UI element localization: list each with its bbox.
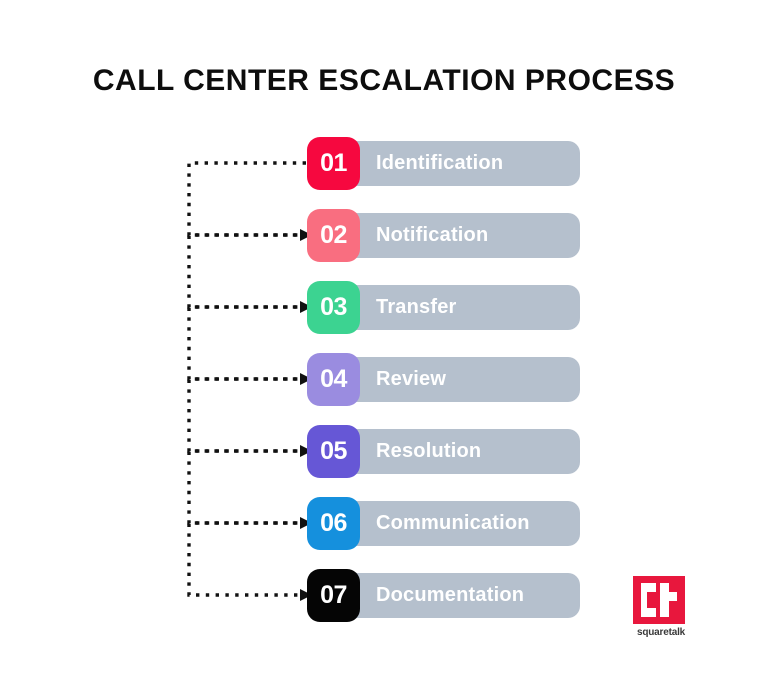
step-row[interactable]: 04 Review (307, 353, 580, 406)
step-label: Communication (376, 501, 530, 546)
step-badge: 03 (307, 281, 360, 334)
step-badge: 02 (307, 209, 360, 262)
step-badge: 01 (307, 137, 360, 190)
step-label: Notification (376, 213, 488, 258)
step-label: Transfer (376, 285, 457, 330)
squaretalk-t-glyph-icon (641, 583, 677, 617)
step-badge: 07 (307, 569, 360, 622)
step-number: 02 (320, 221, 347, 250)
step-number: 01 (320, 149, 347, 178)
page-title: CALL CENTER ESCALATION PROCESS (0, 64, 768, 98)
step-badge: 06 (307, 497, 360, 550)
step-label: Resolution (376, 429, 481, 474)
step-label: Review (376, 357, 446, 402)
squaretalk-logo-icon (633, 576, 685, 624)
step-number: 04 (320, 365, 347, 394)
step-row[interactable]: 07 Documentation (307, 569, 580, 622)
step-number: 07 (320, 581, 347, 610)
step-label: Documentation (376, 573, 524, 618)
step-badge: 04 (307, 353, 360, 406)
squaretalk-wordmark: squaretalk (633, 627, 689, 638)
infographic-canvas: CALL CENTER ESCALATION PROCESS (0, 0, 768, 691)
step-label: Identification (376, 141, 503, 186)
step-row[interactable]: 02 Notification (307, 209, 580, 262)
steps-list: 01 Identification 02 Notification 03 Tra… (0, 137, 768, 622)
step-number: 03 (320, 293, 347, 322)
step-row[interactable]: 06 Communication (307, 497, 580, 550)
squaretalk-logo: squaretalk (633, 576, 695, 641)
step-row[interactable]: 03 Transfer (307, 281, 580, 334)
step-number: 06 (320, 509, 347, 538)
step-number: 05 (320, 437, 347, 466)
step-row[interactable]: 05 Resolution (307, 425, 580, 478)
step-row[interactable]: 01 Identification (307, 137, 580, 190)
step-badge: 05 (307, 425, 360, 478)
